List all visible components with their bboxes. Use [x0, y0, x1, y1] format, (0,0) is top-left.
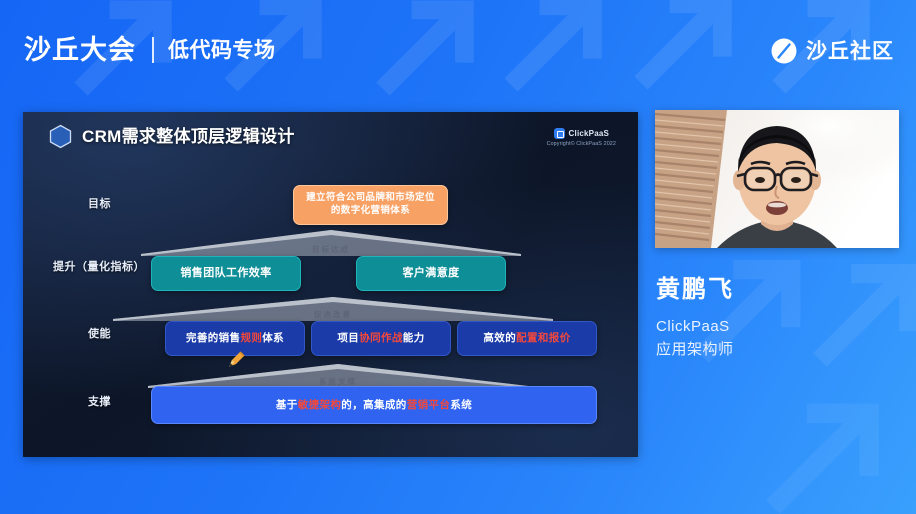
- presentation-stage: 沙丘大会 低代码专场 沙丘社区 CRM需求整体顶层逻辑设计: [0, 0, 916, 514]
- support-highlight-2: 营销平台: [407, 399, 451, 411]
- chevron-promote-improve-label: 促进改善: [113, 309, 553, 320]
- speaker-info: 黄鹏飞 ClickPaaS 应用架构师: [656, 278, 906, 361]
- enable-1-prefix: 完善的销售: [186, 332, 241, 344]
- slide-title: CRM需求整体顶层逻辑设计: [82, 128, 295, 145]
- vendor-copyright: Copyright© ClickPaaS 2022: [547, 141, 616, 147]
- chevron-goal-achieve: 目标达成: [141, 230, 521, 256]
- speaker-role: 应用架构师: [656, 339, 906, 362]
- kpi-box-1[interactable]: 销售团队工作效率: [151, 256, 301, 291]
- support-prefix: 基于: [276, 399, 298, 411]
- row-label-kpi: 提升（量化指标）: [53, 258, 145, 274]
- community-name: 沙丘社区: [806, 41, 894, 62]
- enable-1-suffix: 体系: [262, 332, 284, 344]
- chevron-promote-improve: 促进改善: [113, 297, 553, 321]
- support-box[interactable]: 基于敏捷架构的，高集成的营销平台系统: [151, 386, 597, 424]
- vertical-divider: [152, 37, 154, 63]
- kpi-box-2[interactable]: 客户满意度: [356, 256, 506, 291]
- enable-2-prefix: 项目: [337, 332, 359, 344]
- enable-box-3[interactable]: 高效的配置和报价: [457, 321, 597, 356]
- slide-header: CRM需求整体顶层逻辑设计: [49, 124, 295, 149]
- enable-1-highlight: 规则: [240, 332, 262, 344]
- clickpaas-square-icon: [554, 128, 565, 139]
- row-label-goal: 目标: [88, 195, 111, 211]
- row-label-enable: 使能: [88, 325, 111, 341]
- enable-3-prefix: 高效的: [483, 332, 516, 344]
- speaker-org: ClickPaaS: [656, 316, 906, 339]
- support-suffix: 系统: [450, 399, 472, 411]
- enable-2-highlight: 协同作战: [359, 332, 403, 344]
- row-label-support: 支撑: [88, 393, 111, 409]
- event-branding: 沙丘大会 低代码专场: [24, 37, 276, 64]
- hexagon-icon: [49, 124, 72, 149]
- community-branding: 沙丘社区: [771, 38, 894, 64]
- vendor-name: ClickPaaS: [569, 129, 610, 138]
- enable-3-highlight: 配置和报价: [516, 332, 571, 344]
- pencil-annotation-icon: [226, 348, 248, 375]
- goal-line-1: 建立符合公司品牌和市场定位: [306, 192, 435, 205]
- vendor-logo: ClickPaaS Copyright© ClickPaaS 2022: [547, 128, 616, 147]
- sandhill-s-logo-icon: [771, 38, 797, 64]
- speaker-name: 黄鹏飞: [656, 278, 906, 302]
- enable-box-2[interactable]: 项目协同作战能力: [311, 321, 451, 356]
- event-subtitle: 低代码专场: [168, 40, 276, 61]
- enable-2-suffix: 能力: [403, 332, 425, 344]
- goal-line-2: 的数字化营销体系: [306, 205, 435, 218]
- speaker-webcam-feed[interactable]: [655, 110, 899, 248]
- arrow-glyph: [760, 390, 890, 514]
- event-title: 沙丘大会: [24, 37, 136, 64]
- chevron-goal-achieve-label: 目标达成: [141, 244, 521, 255]
- support-middle: 的，高集成的: [341, 399, 406, 411]
- slide-canvas[interactable]: CRM需求整体顶层逻辑设计 ClickPaaS Copyright© Click…: [23, 112, 638, 457]
- page-header: 沙丘大会 低代码专场 沙丘社区: [0, 0, 916, 100]
- goal-box[interactable]: 建立符合公司品牌和市场定位 的数字化营销体系: [293, 185, 448, 225]
- chevron-system-support: 系统支撑: [148, 364, 528, 388]
- support-highlight-1: 敏捷架构: [298, 399, 342, 411]
